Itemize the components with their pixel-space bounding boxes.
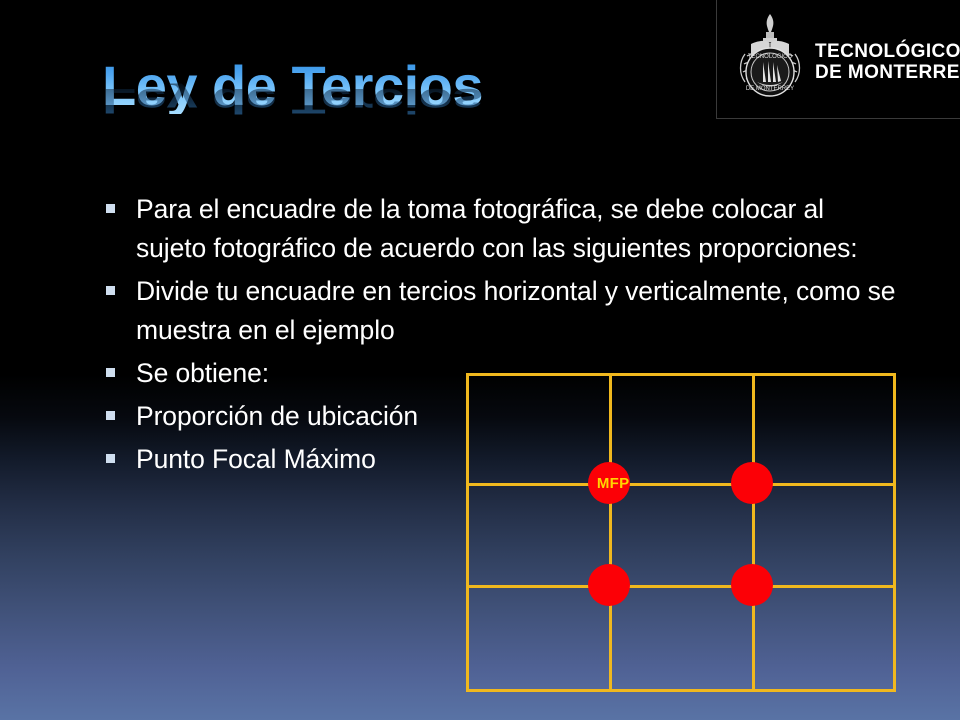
list-item-label: Punto Focal Máximo: [136, 440, 376, 479]
slide-canvas: Ley de Tercios Ley de Tercios: [0, 0, 960, 720]
list-item: Para el encuadre de la toma fotográfica,…: [106, 190, 906, 268]
page-title: Ley de Tercios: [102, 58, 662, 114]
logo-wordmark: TECNOLÓGICO DE MONTERREY®: [815, 41, 960, 86]
title-block: Ley de Tercios Ley de Tercios: [102, 58, 662, 168]
square-bullet-icon: [106, 411, 115, 420]
svg-text:DE MONTERREY: DE MONTERREY: [746, 86, 794, 92]
grid-frame: [466, 373, 896, 692]
square-bullet-icon: [106, 204, 115, 213]
rule-of-thirds-grid: MFP: [466, 373, 896, 692]
list-item-label: Se obtiene:: [136, 354, 269, 393]
grid-line-vertical-1: [609, 373, 612, 692]
list-item: Divide tu encuadre en tercios horizontal…: [106, 272, 906, 350]
square-bullet-icon: [106, 286, 115, 295]
list-item-label: Divide tu encuadre en tercios horizontal…: [136, 272, 898, 350]
crest-emblem-icon: TECNOLOGICO DE MONTERREY: [733, 10, 807, 104]
grid-line-vertical-2: [752, 373, 755, 692]
logo-wordmark-line1: TECNOLÓGICO: [815, 41, 960, 62]
grid-line-horizontal-2: [466, 585, 896, 588]
logo-wordmark-line2-wrap: DE MONTERREY®: [815, 62, 960, 86]
focal-point-label: MFP: [597, 475, 630, 492]
focal-point-dot-mfp: MFP: [588, 462, 630, 504]
svg-text:TECNOLOGICO: TECNOLOGICO: [748, 54, 793, 60]
list-item-label: Para el encuadre de la toma fotográfica,…: [136, 190, 898, 268]
square-bullet-icon: [106, 368, 115, 377]
square-bullet-icon: [106, 454, 115, 463]
focal-point-dot-bottom-left: [588, 564, 630, 606]
logo-wordmark-line2: DE MONTERREY: [815, 62, 960, 83]
logo-box: TECNOLOGICO DE MONTERREY TECNOLÓGICO DE …: [716, 0, 960, 119]
list-item-label: Proporción de ubicación: [136, 397, 418, 436]
grid-line-horizontal-1: [466, 483, 896, 486]
